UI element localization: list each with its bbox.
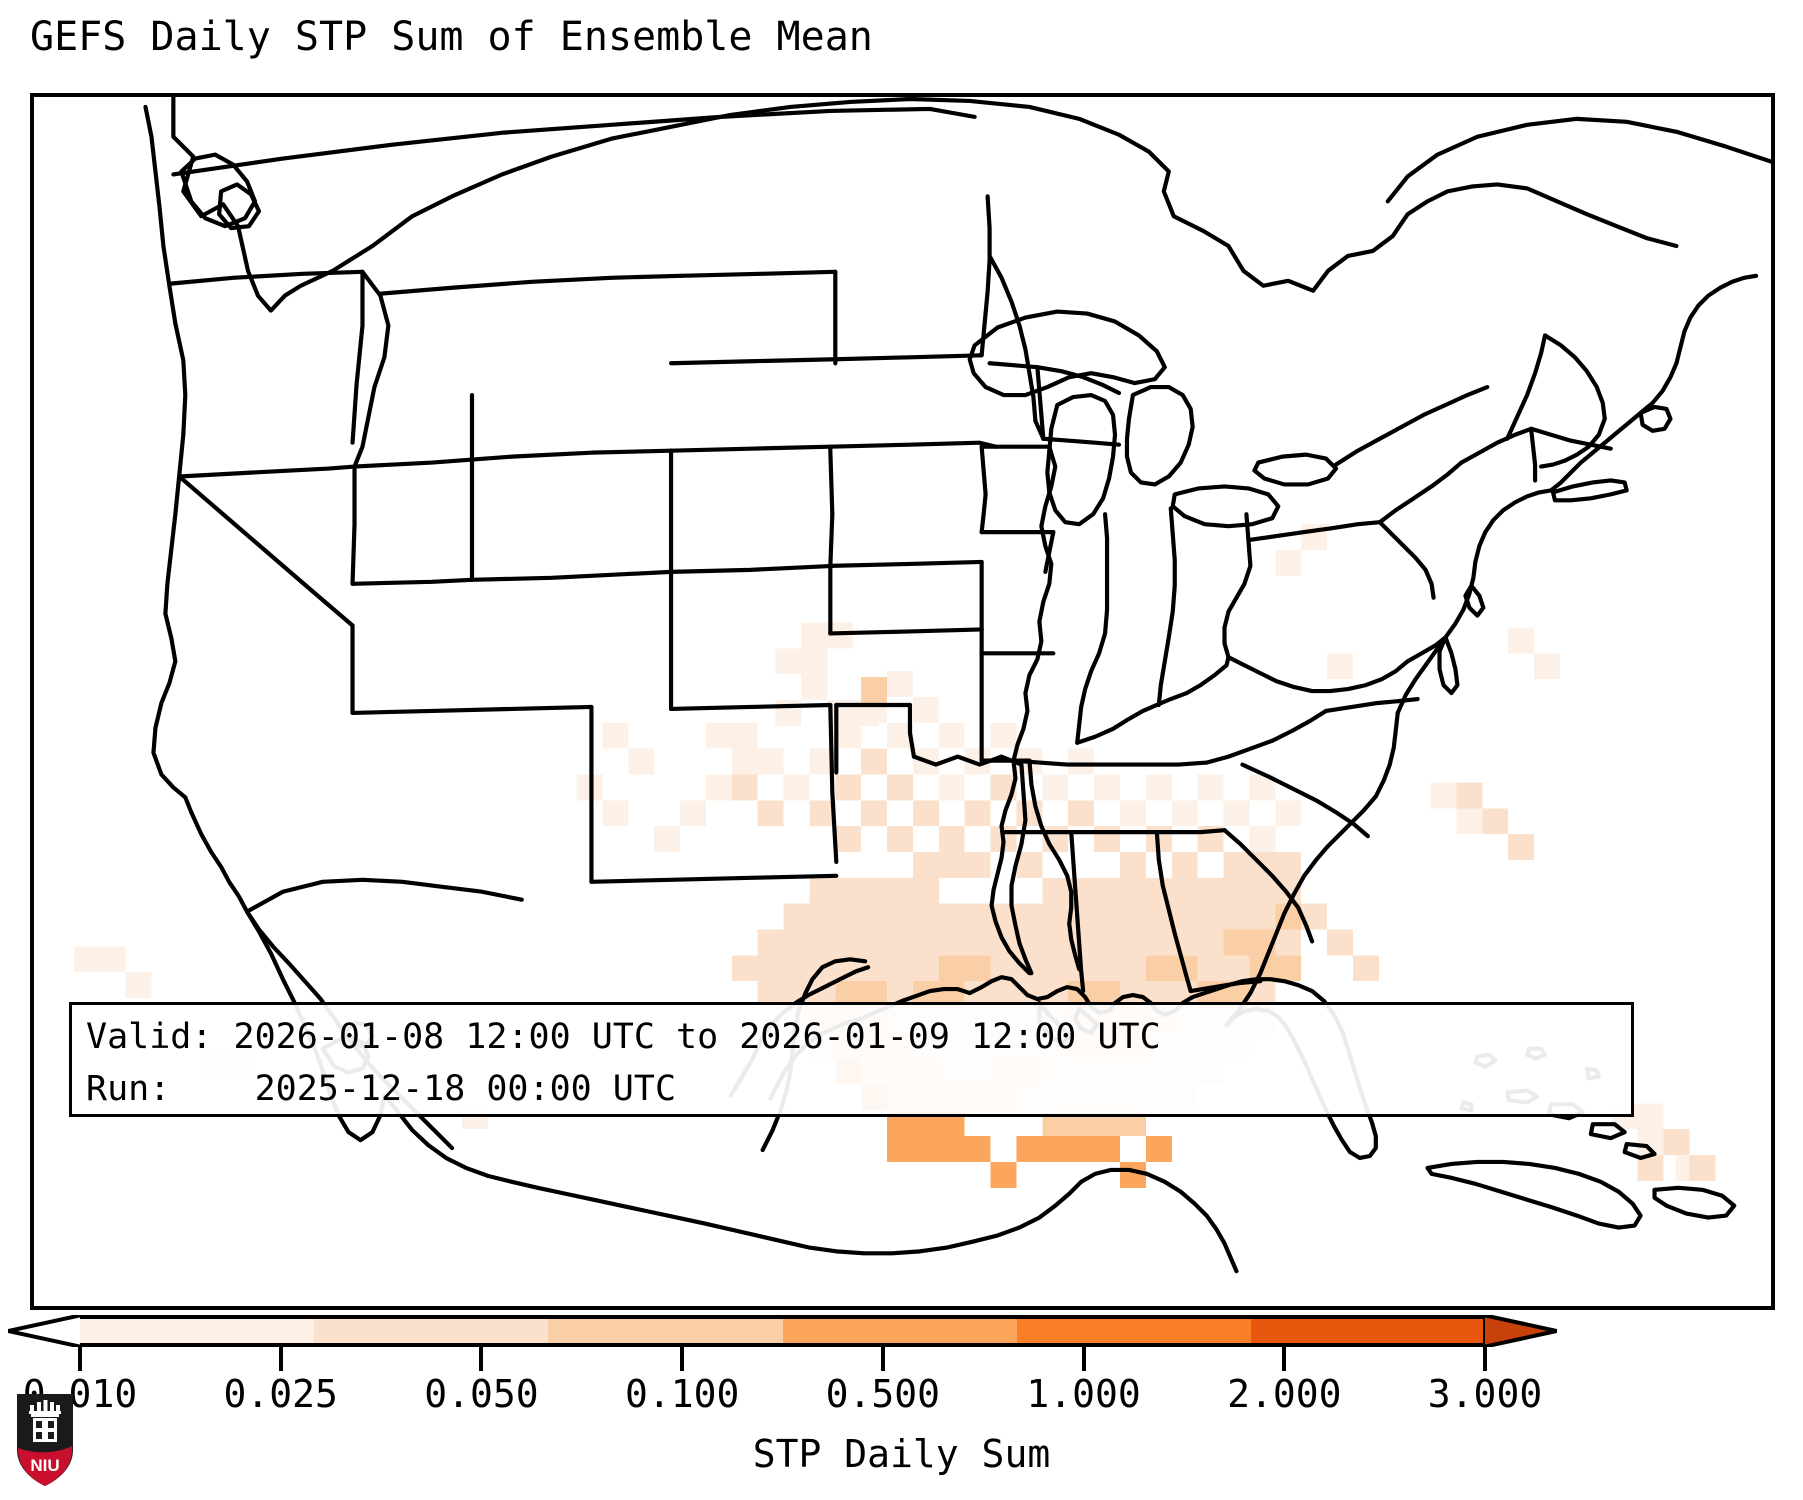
colorbar-tick-label-7: 2.000 (1227, 1372, 1341, 1416)
colorbar-over-arrow (1483, 1315, 1557, 1347)
colorbar-tick-label-5: 0.500 (826, 1372, 940, 1416)
colorbar-band-4 (783, 1319, 1017, 1343)
colorbar-gradient (80, 1315, 1485, 1347)
colorbar-axis-label: STP Daily Sum (0, 1432, 1803, 1476)
colorbar-band-3 (548, 1319, 782, 1343)
run-time-text: Run: 2025-12-18 00:00 UTC (86, 1063, 1617, 1115)
colorbar-tick-label-4: 0.100 (625, 1372, 739, 1416)
stp-shaded-grid (34, 97, 1771, 1306)
colorbar-ticks (0, 1347, 1803, 1371)
valid-run-annotation-box: Valid: 2026-01-08 12:00 UTC to 2026-01-0… (69, 1002, 1634, 1117)
map-canvas: Valid: 2026-01-08 12:00 UTC to 2026-01-0… (34, 97, 1771, 1306)
colorbar-tick-label-2: 0.025 (224, 1372, 338, 1416)
colorbar-band-6 (1251, 1319, 1485, 1343)
colorbar-tick-3 (479, 1347, 483, 1371)
page-title: GEFS Daily STP Sum of Ensemble Mean (30, 14, 873, 60)
niu-shield-logo: NIU (14, 1392, 76, 1488)
colorbar-tick-label-3: 0.050 (424, 1372, 538, 1416)
colorbar-band-5 (1017, 1319, 1251, 1343)
colorbar-band-2 (314, 1319, 548, 1343)
colorbar-tick-1 (78, 1347, 82, 1371)
colorbar-tick-label-6: 1.000 (1026, 1372, 1140, 1416)
colorbar-tick-4 (680, 1347, 684, 1371)
colorbar: 0.0100.0250.0500.1000.5001.0002.0003.000… (0, 1310, 1803, 1500)
niu-logo-text: NIU (30, 1456, 59, 1475)
colorbar-band-1 (80, 1319, 314, 1343)
colorbar-tick-6 (1082, 1347, 1086, 1371)
colorbar-tick-2 (279, 1347, 283, 1371)
map-axes: Valid: 2026-01-08 12:00 UTC to 2026-01-0… (30, 93, 1775, 1310)
colorbar-under-arrow (8, 1315, 82, 1347)
colorbar-tick-8 (1483, 1347, 1487, 1371)
valid-time-text: Valid: 2026-01-08 12:00 UTC to 2026-01-0… (86, 1011, 1617, 1063)
colorbar-tick-5 (881, 1347, 885, 1371)
colorbar-tick-7 (1282, 1347, 1286, 1371)
colorbar-tick-labels: 0.0100.0250.0500.1000.5001.0002.0003.000 (0, 1372, 1803, 1424)
colorbar-tick-label-8: 3.000 (1428, 1372, 1542, 1416)
